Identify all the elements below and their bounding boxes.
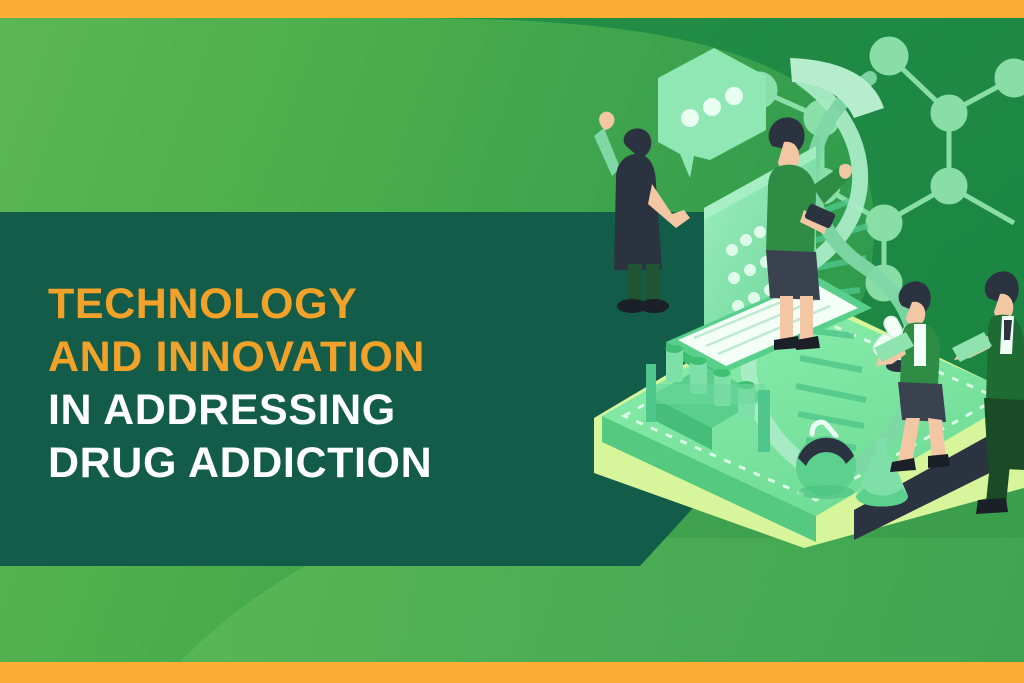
- headline-line-4: DRUG ADDICTION: [48, 437, 568, 490]
- top-accent-bar: [0, 0, 1024, 18]
- page-title: TECHNOLOGY AND INNOVATION IN ADDRESSING …: [48, 278, 568, 490]
- headline-line-2: AND INNOVATION: [48, 331, 568, 384]
- chat-bubble: [658, 48, 766, 178]
- headline-line-1: TECHNOLOGY: [48, 278, 568, 331]
- bottom-accent-bar: [0, 662, 1024, 683]
- headline-line-3: IN ADDRESSING: [48, 384, 568, 437]
- illustration-lab-scene: [554, 18, 1024, 662]
- banner-canvas: TECHNOLOGY AND INNOVATION IN ADDRESSING …: [0, 0, 1024, 683]
